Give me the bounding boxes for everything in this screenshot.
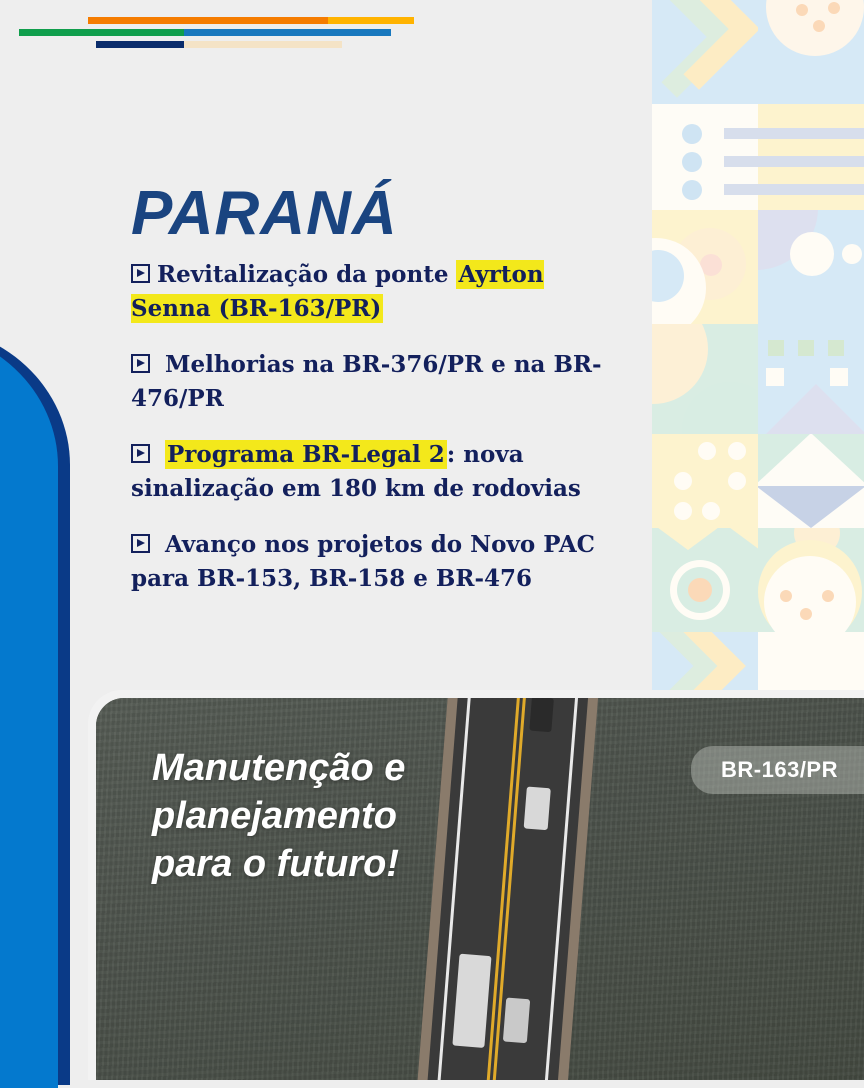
zigzag-yellow-top2 [714, 528, 758, 550]
overlay-line-3: para o futuro! [152, 840, 405, 888]
pattern-tile-dots-circle [758, 0, 864, 104]
top-decorative-bars [0, 0, 660, 60]
pattern-tile-squares-triangle [758, 324, 864, 434]
geometric-pattern-panel [652, 0, 864, 696]
dot-peach-3 [813, 20, 825, 32]
pattern-tile-six-dots [652, 434, 758, 528]
bullet-text-2: Melhorias na BR-376/PR e na BR-476/PR [131, 348, 631, 416]
bullet-list: Revitalização da ponte Ayrton Senna (BR-… [131, 258, 631, 618]
dot-white-3 [674, 472, 692, 490]
overlay-line-2: planejamento [152, 792, 405, 840]
square-green-1 [768, 340, 784, 356]
triangle-lavender-bottom [758, 486, 864, 528]
dot-face-2 [822, 590, 834, 602]
dot-white-5 [674, 502, 692, 520]
bar-navy [96, 41, 184, 48]
pattern-tile-chevron [652, 0, 758, 104]
dot-peach-2 [828, 2, 840, 14]
triangle-mint-top-right [812, 434, 864, 486]
vehicle-car-white-2 [503, 998, 530, 1044]
circle-white-large [790, 232, 834, 276]
pattern-tile-blank-bottom [758, 632, 864, 696]
triangle-lavender-icon [764, 384, 864, 434]
dot-white-4 [728, 472, 746, 490]
vehicle-car-dark [529, 698, 554, 732]
list-item: Avanço nos projetos do Novo PAC para BR-… [131, 528, 631, 596]
circle-white-small [842, 244, 862, 264]
list-item: Revitalização da ponte Ayrton Senna (BR-… [131, 258, 631, 326]
pattern-tile-chevron-bottom [652, 632, 758, 696]
pattern-tile-mint [652, 324, 758, 434]
list-line-4 [758, 128, 864, 139]
pattern-tile-circles [758, 210, 864, 324]
pattern-tile-yellow-lines [758, 104, 864, 210]
highway-badge: BR-163/PR [691, 746, 864, 794]
circle-mint-lower [682, 382, 758, 434]
list-bullet-1 [682, 124, 702, 144]
dot-face-3 [800, 608, 812, 620]
play-square-icon [131, 264, 150, 283]
bar-sand [184, 41, 342, 48]
dot-face-1 [780, 590, 792, 602]
play-square-icon [131, 534, 150, 553]
dot-white-1 [698, 442, 716, 460]
dot-white-6 [702, 502, 720, 520]
photo-card: Manutenção e planejamento para o futuro!… [88, 690, 864, 1080]
list-line-6 [758, 184, 864, 195]
triangle-mint-top-left [758, 434, 810, 486]
pattern-tile-ring [652, 528, 758, 632]
bullet-text-1: Revitalização da ponte Ayrton Senna (BR-… [131, 258, 631, 326]
bullet-part-highlight: Programa BR-Legal 2 [165, 440, 447, 469]
bullet-text-4: Avanço nos projetos do Novo PAC para BR-… [131, 528, 631, 596]
bar-blue [184, 29, 391, 36]
pattern-tile-list [652, 104, 758, 210]
dot-white-2 [728, 442, 746, 460]
ring-peach-core [688, 578, 712, 602]
bridge-photo: Manutenção e planejamento para o futuro!… [96, 698, 864, 1080]
bar-green [19, 29, 184, 36]
main-content: PARANÁ Revitalização da ponte Ayrton Sen… [0, 0, 652, 696]
bullet-part-plain: Avanço nos projetos do Novo PAC para BR-… [131, 531, 595, 592]
list-item: Programa BR-Legal 2: nova sinalização em… [131, 438, 631, 506]
vehicle-car-white-1 [524, 786, 551, 830]
bullet-text-3: Programa BR-Legal 2: nova sinalização em… [131, 438, 631, 506]
play-square-icon [131, 354, 150, 373]
pattern-tile-diamond [758, 434, 864, 528]
list-line-1 [724, 128, 758, 139]
pattern-tile-concentric [652, 210, 758, 324]
overlay-line-1: Manutenção e [152, 744, 405, 792]
page-title: PARANÁ [131, 178, 398, 249]
list-bullet-2 [682, 152, 702, 172]
list-line-3 [724, 184, 758, 195]
bullet-part-plain: Revitalização da ponte [157, 261, 456, 288]
bullet-part-plain: Melhorias na BR-376/PR e na BR-476/PR [131, 351, 602, 412]
list-line-5 [758, 156, 864, 167]
dot-peach-1 [796, 4, 808, 16]
pattern-tile-face [758, 528, 864, 632]
chevron-cream-bottom-icon [652, 632, 746, 696]
list-bullet-3 [682, 180, 702, 200]
list-line-2 [724, 156, 758, 167]
play-square-icon [131, 444, 150, 463]
bar-orange [88, 17, 328, 24]
bar-amber [328, 17, 414, 24]
list-item: Melhorias na BR-376/PR e na BR-476/PR [131, 348, 631, 416]
square-green-3 [828, 340, 844, 356]
square-green-2 [798, 340, 814, 356]
photo-overlay-text: Manutenção e planejamento para o futuro! [152, 744, 405, 888]
